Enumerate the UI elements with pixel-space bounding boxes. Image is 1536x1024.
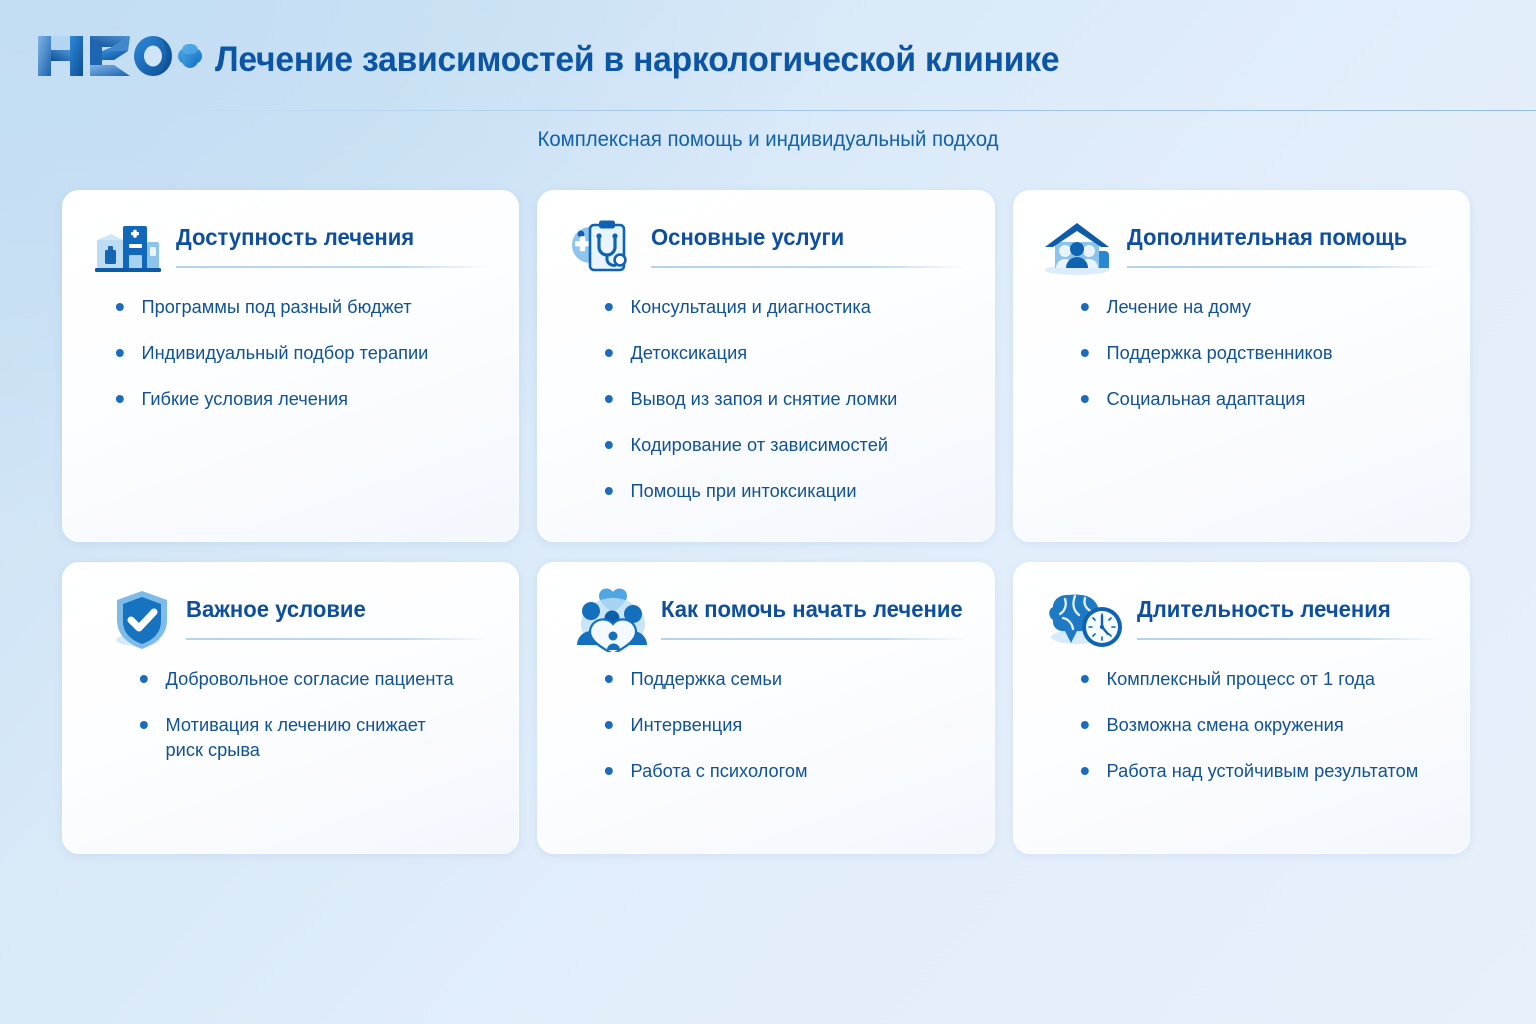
card-services[interactable]: Основные услуги Консультация и диагности… [537, 190, 994, 542]
header-divider [170, 110, 1536, 111]
card-header: Длительность лечения [1041, 588, 1444, 650]
list-item: Добровольное согласие пациента [134, 666, 490, 691]
list-item: Индивидуальный подбор терапии [110, 340, 490, 365]
card-availability[interactable]: Доступность лечения Программы под разный… [62, 190, 519, 542]
list-item: Поддержка родственников [1075, 340, 1441, 365]
list-item: Интервенция [599, 712, 965, 737]
card-divider [661, 638, 964, 640]
list-item: Комплексный процесс от 1 года [1075, 666, 1441, 691]
list-item: Лечение на дому [1075, 294, 1441, 319]
list-item: Кодирование от зависимостей [599, 432, 965, 457]
card-title: Основные услуги [651, 224, 956, 251]
card-header: Важное условие [90, 588, 493, 650]
card-header: Основные услуги [565, 216, 968, 278]
shield-check-icon [104, 588, 180, 652]
list-item: Гибкие условия лечения [110, 386, 490, 411]
card-title: Длительность лечения [1137, 596, 1432, 623]
card-title: Важное условие [186, 596, 481, 623]
page-header: Лечение зависимостей в наркологической к… [0, 0, 1536, 112]
list-item: Вывод из запоя и снятие ломки [599, 386, 965, 411]
card-title: Как помочь начать лечение [661, 596, 956, 623]
list-item: Детоксикация [599, 340, 965, 365]
list-item: Социальная адаптация [1075, 386, 1441, 411]
card-important-condition[interactable]: Важное условие Добровольное согласие пац… [62, 562, 519, 854]
card-divider [176, 266, 489, 268]
card-divider [1137, 638, 1440, 640]
family-heart-icon [571, 588, 655, 652]
card-header: Как помочь начать лечение [565, 588, 968, 650]
clipboard-stethoscope-icon [565, 216, 641, 280]
card-bullet-list: Программы под разный бюджет Индивидуальн… [110, 294, 495, 432]
list-item: Программы под разный бюджет [110, 294, 490, 319]
card-bullet-list: Добровольное согласие пациента Мотивация… [134, 666, 495, 783]
hospital-icon [90, 216, 166, 280]
list-item: Работа с психологом [599, 758, 965, 783]
brain-clock-icon [1047, 588, 1129, 652]
card-divider [186, 638, 489, 640]
card-header: Дополнительная помощь [1041, 216, 1444, 278]
page-subtitle: Комплексная помощь и индивидуальный подх… [23, 128, 1513, 152]
card-how-to-start[interactable]: Как помочь начать лечение Поддержка семь… [537, 562, 994, 854]
list-item: Помощь при интоксикации [599, 478, 965, 503]
cards-row-bottom: Важное условие Добровольное согласие пац… [62, 562, 1470, 854]
card-divider [651, 266, 964, 268]
card-extra-help[interactable]: Дополнительная помощь Лечение на дому По… [1013, 190, 1470, 542]
card-bullet-list: Консультация и диагностика Детоксикация … [599, 294, 970, 524]
cards-row-top: Доступность лечения Программы под разный… [62, 190, 1470, 542]
card-title: Дополнительная помощь [1127, 224, 1432, 251]
card-divider [1127, 266, 1440, 268]
card-bullet-list: Поддержка семьи Интервенция Работа с пси… [599, 666, 970, 804]
neo-plus-logo [34, 30, 204, 84]
home-family-icon [1041, 216, 1117, 280]
page-title: Лечение зависимостей в наркологической к… [215, 40, 1059, 80]
list-item: Работа над устойчивым результатом [1075, 758, 1441, 783]
card-duration[interactable]: Длительность лечения Комплексный процесс… [1013, 562, 1470, 854]
cards-grid: Доступность лечения Программы под разный… [62, 190, 1470, 854]
card-bullet-list: Лечение на дому Поддержка родственников … [1075, 294, 1446, 432]
card-title: Доступность лечения [176, 224, 481, 251]
list-item: Мотивация к лечению снижает риск срыва [134, 712, 439, 762]
list-item: Возможна смена окружения [1075, 712, 1441, 737]
list-item: Поддержка семьи [599, 666, 965, 691]
card-bullet-list: Комплексный процесс от 1 года Возможна с… [1075, 666, 1446, 804]
list-item: Консультация и диагностика [599, 294, 965, 319]
card-header: Доступность лечения [90, 216, 493, 278]
